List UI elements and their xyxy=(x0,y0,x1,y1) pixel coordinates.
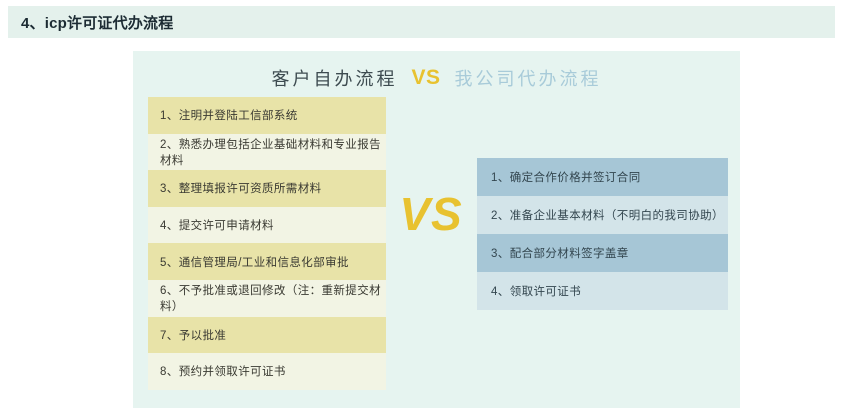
comparison-headings: 客户自办流程 VS 我公司代办流程 xyxy=(133,59,740,97)
comparison-panel: 客户自办流程 VS 我公司代办流程 1、注明并登陆工信部系统 2、熟悉办理包括企… xyxy=(133,51,740,408)
list-item: 2、熟悉办理包括企业基础材料和专业报告材料 xyxy=(148,134,386,171)
list-item: 3、整理填报许可资质所需材料 xyxy=(148,170,386,207)
list-item: 1、注明并登陆工信部系统 xyxy=(148,97,386,134)
page-title: 4、icp许可证代办流程 xyxy=(8,12,173,33)
right-column-heading: 我公司代办流程 xyxy=(455,65,602,91)
list-item: 4、提交许可申请材料 xyxy=(148,207,386,244)
vs-heading-badge: VS xyxy=(411,66,440,90)
list-item: 2、准备企业基本材料（不明白的我司协助） xyxy=(477,196,728,234)
list-item: 4、领取许可证书 xyxy=(477,272,728,310)
section-title-bar: 4、icp许可证代办流程 xyxy=(8,6,835,38)
list-item: 6、不予批准或退回修改（注：重新提交材料） xyxy=(148,280,386,317)
list-item: 3、配合部分材料签字盖章 xyxy=(477,234,728,272)
left-column-heading: 客户自办流程 xyxy=(271,65,397,91)
list-item: 7、予以批准 xyxy=(148,317,386,354)
agency-process-list: 1、确定合作价格并签订合同 2、准备企业基本材料（不明白的我司协助） 3、配合部… xyxy=(477,158,728,310)
list-item: 1、确定合作价格并签订合同 xyxy=(477,158,728,196)
customer-process-list: 1、注明并登陆工信部系统 2、熟悉办理包括企业基础材料和专业报告材料 3、整理填… xyxy=(148,97,386,390)
list-item: 8、预约并领取许可证书 xyxy=(148,353,386,390)
list-item: 5、通信管理局/工业和信息化部审批 xyxy=(148,243,386,280)
vs-divider-label: VS xyxy=(391,191,471,237)
